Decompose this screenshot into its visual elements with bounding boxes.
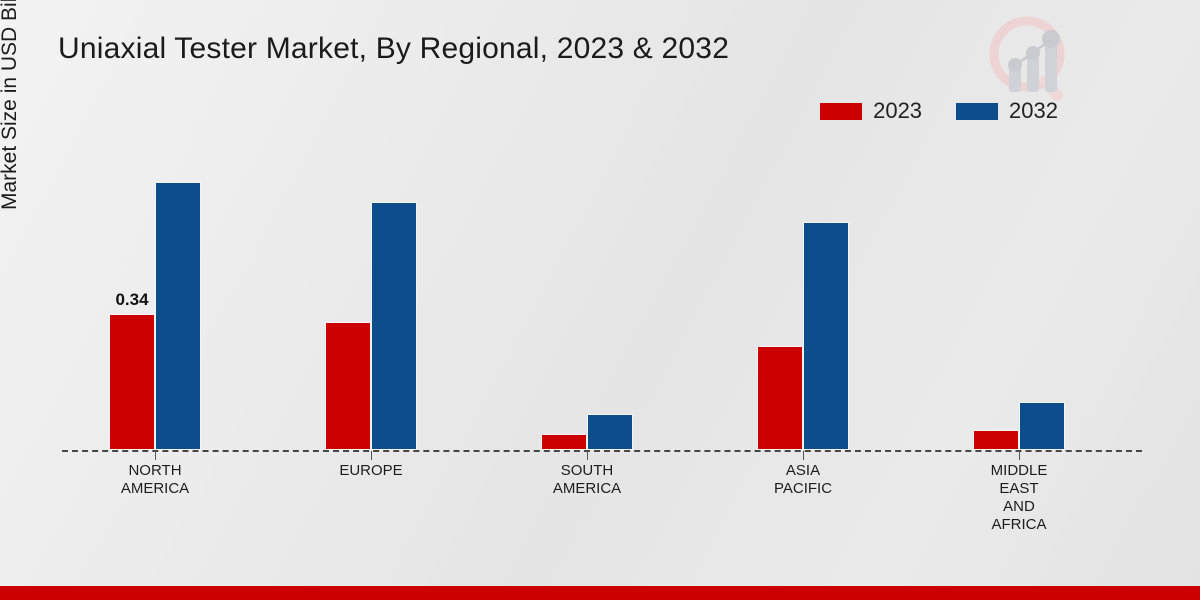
legend-swatch-2032 bbox=[956, 103, 998, 120]
page-title: Uniaxial Tester Market, By Regional, 202… bbox=[58, 32, 729, 66]
watermark-logo-icon bbox=[975, 8, 1085, 108]
bar-2032-5[interactable] bbox=[1019, 402, 1065, 450]
bar-group-bars: 0.34 bbox=[62, 150, 278, 450]
bar-2023-3[interactable] bbox=[541, 434, 587, 450]
y-axis-title: Market Size in USD Billion bbox=[0, 0, 22, 210]
x-axis-tick bbox=[155, 451, 156, 460]
bar-group-bars bbox=[278, 150, 494, 450]
x-axis-tick bbox=[803, 451, 804, 460]
x-axis-category-label: SOUTH AMERICA bbox=[553, 462, 621, 498]
x-axis-tick bbox=[371, 451, 372, 460]
x-axis-category-label: ASIA PACIFIC bbox=[774, 462, 832, 498]
bar-group-bars bbox=[926, 150, 1142, 450]
bar-2023-1[interactable] bbox=[109, 314, 155, 450]
legend-item-2023[interactable]: 2023 bbox=[820, 100, 922, 122]
x-axis-category-label: MIDDLE EAST AND AFRICA bbox=[991, 462, 1048, 534]
x-axis-category-label: EUROPE bbox=[339, 462, 402, 480]
x-axis-tick bbox=[587, 451, 588, 460]
plot-area: 0.34NORTH AMERICAEUROPESOUTH AMERICAASIA… bbox=[62, 150, 1142, 451]
bar-group-bars bbox=[710, 150, 926, 450]
bar-2023-2[interactable] bbox=[325, 322, 371, 450]
footer-accent-bar bbox=[0, 586, 1200, 600]
chart-legend: 2023 2032 bbox=[820, 100, 1058, 122]
bar-value-label: 0.34 bbox=[109, 290, 155, 310]
legend-label-2032: 2032 bbox=[1009, 100, 1058, 122]
legend-label-2023: 2023 bbox=[873, 100, 922, 122]
bar-2032-3[interactable] bbox=[587, 414, 633, 450]
bar-2023-4[interactable] bbox=[757, 346, 803, 450]
x-axis-category-label: NORTH AMERICA bbox=[121, 462, 189, 498]
x-axis-baseline bbox=[62, 450, 1142, 452]
bar-group: MIDDLE EAST AND AFRICA bbox=[926, 150, 1142, 450]
bar-group-bars bbox=[494, 150, 710, 450]
bar-group: SOUTH AMERICA bbox=[494, 150, 710, 450]
bar-group: 0.34NORTH AMERICA bbox=[62, 150, 278, 450]
bar-2032-4[interactable] bbox=[803, 222, 849, 450]
legend-swatch-2023 bbox=[820, 103, 862, 120]
x-axis-tick bbox=[1019, 451, 1020, 460]
legend-item-2032[interactable]: 2032 bbox=[956, 100, 1058, 122]
bar-2032-1[interactable] bbox=[155, 182, 201, 450]
bar-group: EUROPE bbox=[278, 150, 494, 450]
chart-figure: Uniaxial Tester Market, By Regional, 202… bbox=[0, 0, 1200, 600]
bar-2023-5[interactable] bbox=[973, 430, 1019, 450]
bar-2032-2[interactable] bbox=[371, 202, 417, 450]
bar-group: ASIA PACIFIC bbox=[710, 150, 926, 450]
